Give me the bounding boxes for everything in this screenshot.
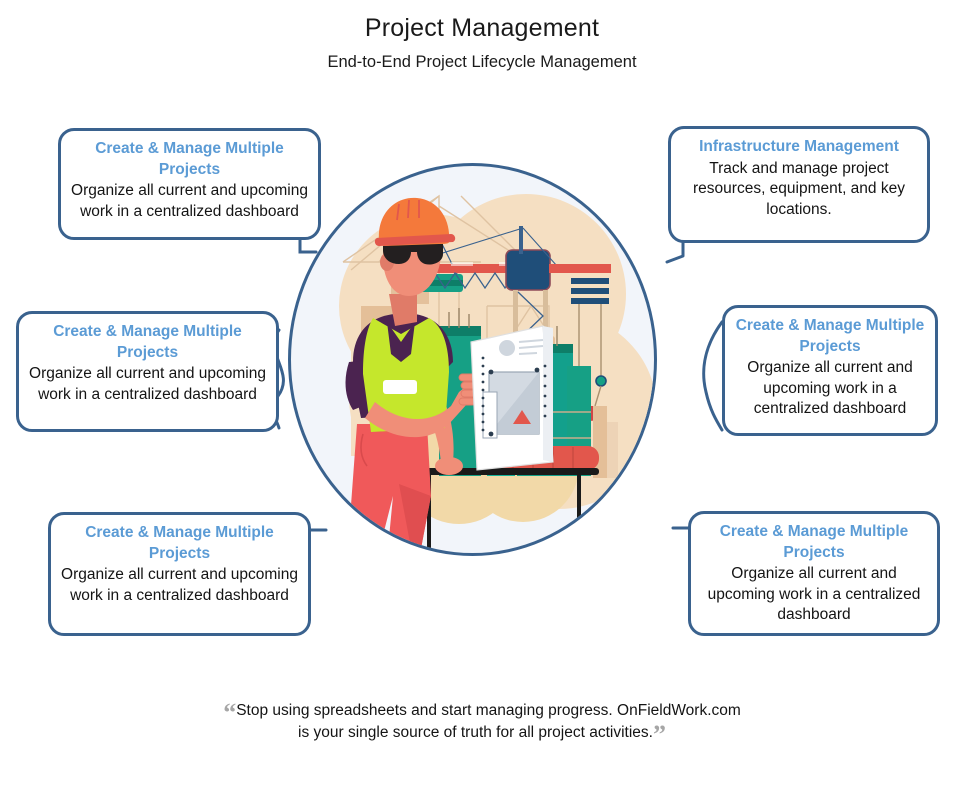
- callout-title: Create & Manage Multiple Projects: [71, 139, 308, 180]
- callout-body: Organize all current and upcoming work i…: [735, 358, 925, 420]
- callout-bottom-left[interactable]: Create & Manage Multiple Projects Organi…: [48, 512, 311, 636]
- callout-top-left[interactable]: Create & Manage Multiple Projects Organi…: [58, 128, 321, 240]
- page-subtitle: End-to-End Project Lifecycle Management: [0, 52, 964, 73]
- callout-bottom-right[interactable]: Create & Manage Multiple Projects Organi…: [688, 511, 940, 636]
- callout-title: Create & Manage Multiple Projects: [61, 523, 298, 564]
- callout-body: Organize all current and upcoming work i…: [61, 565, 298, 606]
- callout-title: Create & Manage Multiple Projects: [735, 316, 925, 357]
- callout-tail-middle-right: [704, 322, 722, 430]
- callout-body: Organize all current and upcoming work i…: [71, 181, 308, 222]
- callout-title: Create & Manage Multiple Projects: [701, 522, 927, 563]
- callout-body: Track and manage project resources, equi…: [681, 159, 917, 221]
- callout-body: Organize all current and upcoming work i…: [29, 364, 266, 405]
- page-header: Project Management End-to-End Project Li…: [0, 12, 964, 73]
- quote-line-2: is your single source of truth for all p…: [298, 724, 653, 741]
- quote-line-1: Stop using spreadsheets and start managi…: [236, 702, 741, 719]
- callout-tail-top-right: [667, 240, 700, 262]
- open-quote-icon: “: [223, 698, 236, 727]
- construction-worker-illustration: [291, 166, 657, 556]
- callout-title: Infrastructure Management: [681, 137, 917, 158]
- callout-body: Organize all current and upcoming work i…: [701, 564, 927, 626]
- callout-middle-left[interactable]: Create & Manage Multiple Projects Organi…: [16, 311, 279, 432]
- center-illustration-circle: [288, 163, 657, 556]
- close-quote-icon: ”: [653, 720, 666, 749]
- page-title: Project Management: [0, 12, 964, 45]
- footer-quote: “Stop using spreadsheets and start manag…: [0, 700, 964, 745]
- callout-top-right[interactable]: Infrastructure Management Track and mana…: [668, 126, 930, 243]
- callout-middle-right[interactable]: Create & Manage Multiple Projects Organi…: [722, 305, 938, 436]
- callout-title: Create & Manage Multiple Projects: [29, 322, 266, 363]
- blueprint-sheet: [471, 326, 553, 470]
